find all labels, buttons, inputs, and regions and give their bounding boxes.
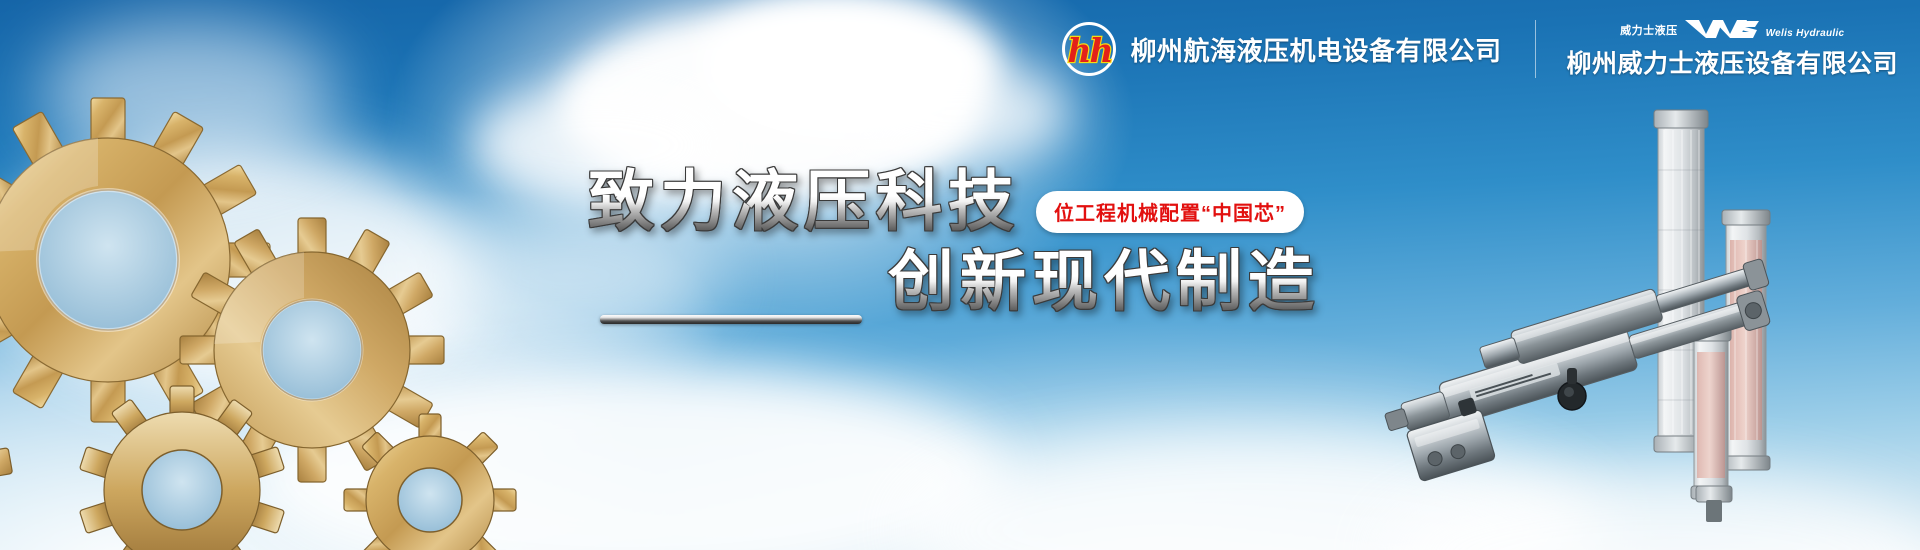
slogan-badge: 位工程机械配置“中国芯”	[1036, 191, 1304, 233]
logo-divider	[1535, 20, 1536, 78]
ws-monogram-icon	[1683, 18, 1761, 40]
headline-line-1: 致力液压科技	[588, 166, 1020, 237]
gear-icon	[0, 60, 570, 550]
headline-line-2: 创新现代制造	[888, 246, 1320, 317]
company-name-hanghai: 柳州航海液压机电设备有限公司	[1130, 31, 1501, 68]
cloud-shape	[700, 0, 1000, 140]
brand-welis[interactable]: 威力士液压 Welis Hydraulic 柳州威力士液压设备有限公司	[1562, 18, 1898, 80]
cloud-shape	[840, 60, 1070, 165]
hh-logo-text: hh	[1067, 34, 1111, 67]
brand-hanghai[interactable]: hh 柳州航海液压机电设备有限公司	[1062, 22, 1535, 76]
headline-line-2-row: 创新现代制造	[600, 246, 1320, 317]
headline-line-1-row: 致力液压科技 位工程机械配置“中国芯”	[588, 166, 1304, 237]
hh-logo-icon: hh	[1062, 22, 1116, 76]
company-name-welis: 柳州威力士液压设备有限公司	[1566, 44, 1898, 80]
welis-logo-cn: 威力士液压	[1620, 26, 1678, 40]
metal-divider-rule	[600, 315, 862, 324]
welis-logo-en: Welis Hydraulic	[1766, 29, 1845, 40]
brand-logos: hh 柳州航海液压机电设备有限公司 威力士液压 Welis Hydraulic …	[1062, 18, 1898, 80]
hero-banner: hh 柳州航海液压机电设备有限公司 威力士液压 Welis Hydraulic …	[0, 0, 1920, 550]
welis-logo-icon: 威力士液压 Welis Hydraulic	[1566, 18, 1898, 40]
hydraulic-cylinder-icon	[1360, 100, 1920, 550]
